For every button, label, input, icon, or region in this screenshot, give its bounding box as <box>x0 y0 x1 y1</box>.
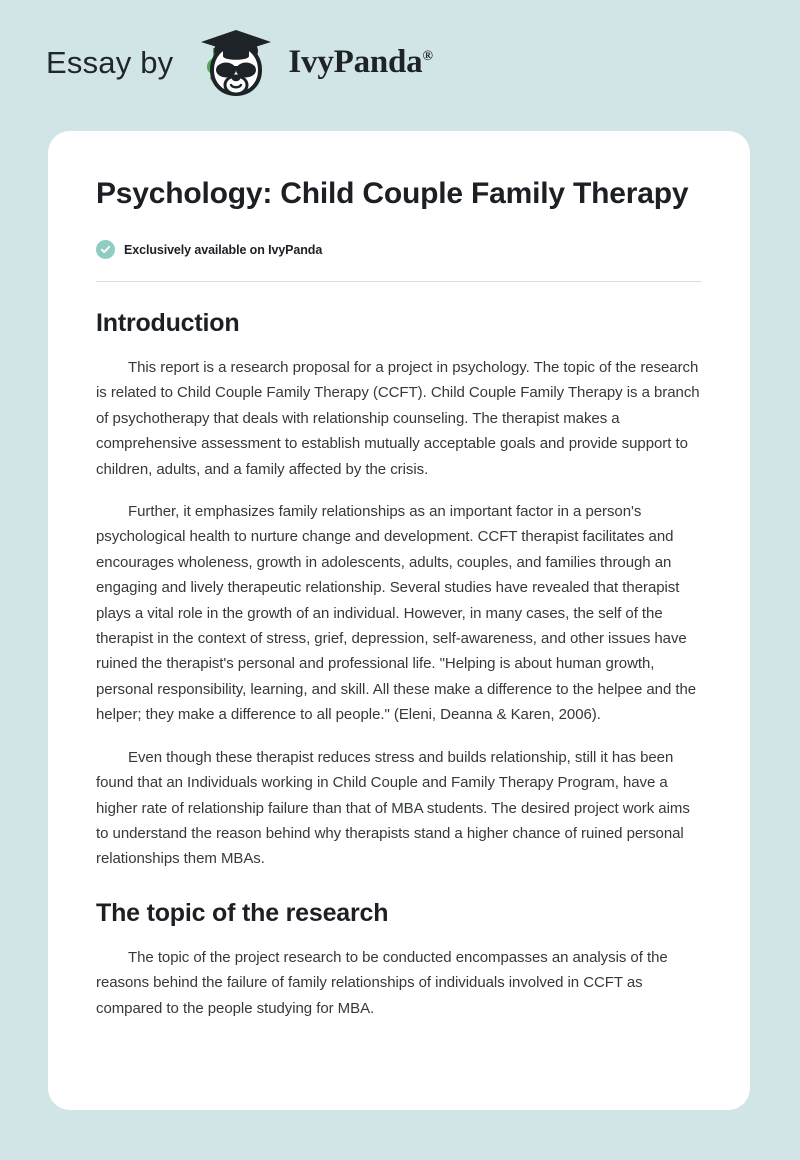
page-title: Psychology: Child Couple Family Therapy <box>96 173 702 214</box>
paragraph: The topic of the project research to be … <box>96 945 702 1021</box>
section-heading-topic-of-the-research: The topic of the research <box>96 898 702 928</box>
essay-card: Psychology: Child Couple Family Therapy … <box>48 131 750 1110</box>
paragraph: Even though these therapist reduces stre… <box>96 745 702 872</box>
paragraph: This report is a research proposal for a… <box>96 355 702 482</box>
ivypanda-wordmark: IvyPanda® <box>288 46 432 79</box>
brand-lockup[interactable]: Essay by <box>46 28 433 98</box>
ivypanda-panda-logo-icon <box>187 28 279 98</box>
site-header: Essay by <box>0 0 800 125</box>
ivypanda-wordmark-text: IvyPanda <box>288 44 422 80</box>
registered-trademark-symbol: ® <box>422 49 432 64</box>
status-badge: Exclusively available on IvyPanda <box>96 240 702 259</box>
essay-by-label: Essay by <box>46 47 173 78</box>
exclusive-availability-label: Exclusively available on IvyPanda <box>124 243 322 257</box>
check-circle-icon <box>96 240 115 259</box>
paragraph: Further, it emphasizes family relationsh… <box>96 499 702 728</box>
title-divider <box>96 281 702 282</box>
section-heading-introduction: Introduction <box>96 308 702 338</box>
ivypanda-logo[interactable]: IvyPanda® <box>187 28 432 98</box>
